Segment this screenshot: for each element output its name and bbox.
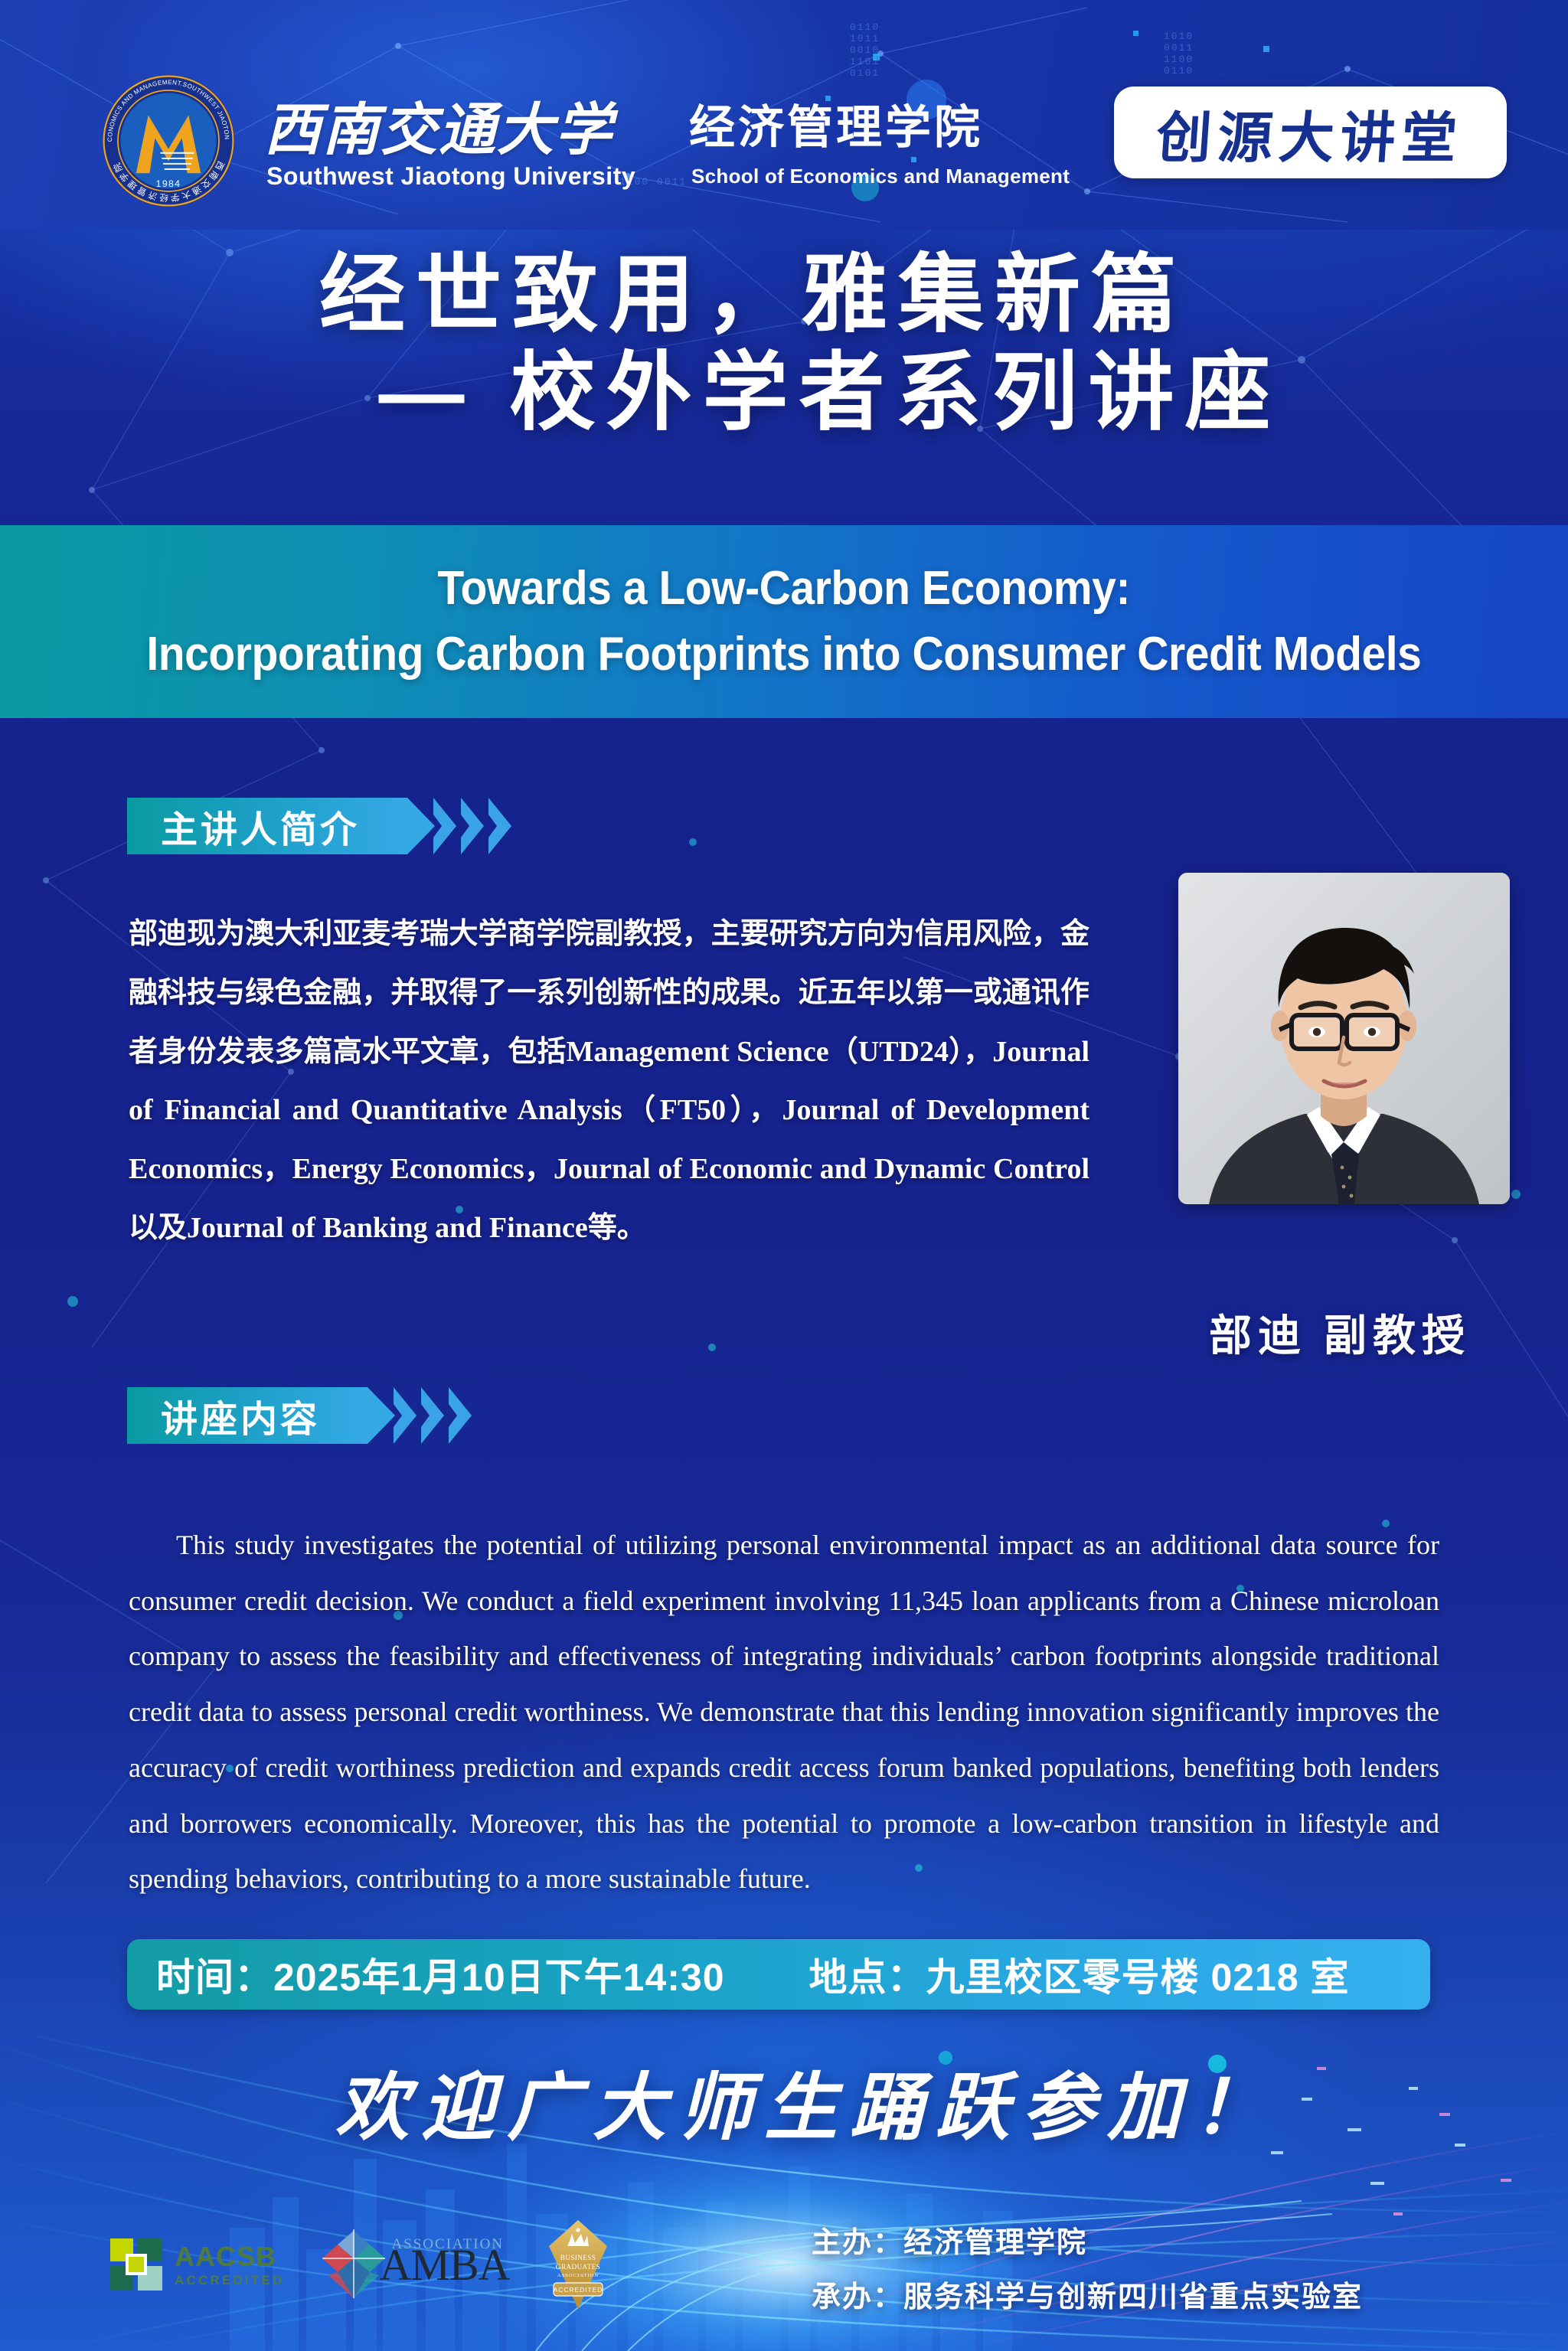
aacsb-logo: AACSB ACCREDITED [107, 2235, 284, 2294]
abstract-body: This study investigates the potential of… [129, 1530, 1439, 1894]
chevron-right-icon-2 [461, 798, 484, 854]
amba-sub: ASSOCIATION [391, 2236, 504, 2253]
speaker-name-title: 部迪 副教授 [1141, 1301, 1539, 1363]
speaker-heading-bar: 主讲人简介 [127, 798, 407, 854]
chevron-right-icon-3 [488, 798, 511, 854]
organizers: 主办：经济管理学院 承办：服务科学与创新四川省重点实验室 [812, 2219, 1363, 2315]
lecture-series-badge: 创源大讲堂 [1114, 87, 1507, 178]
chevron-right-icon-1 [433, 798, 456, 854]
aacsb-wordmark: AACSB ACCREDITED [175, 2243, 284, 2287]
english-subtitle-band: Towards a Low-Carbon Economy: Incorporat… [0, 525, 1568, 718]
speaker-heading-label: 主讲人简介 [161, 799, 360, 853]
speaker-photo [1178, 873, 1510, 1204]
chevron-right-icon-4 [394, 1387, 416, 1444]
accreditation-logos: AACSB ACCREDITED ASSO [107, 2220, 610, 2309]
content-heading-label: 讲座内容 [161, 1389, 320, 1442]
event-info-bar: 时间：2025年1月10日下午14:30 地点：九里校区零号楼 0218 室 [127, 1939, 1430, 2010]
school-name-cn: 经济管理学院 [689, 90, 983, 157]
chevron-right-icon-6 [449, 1387, 472, 1444]
event-place: 地点：九里校区零号楼 0218 室 [809, 1947, 1350, 2002]
content-section-heading: 讲座内容 [127, 1387, 472, 1444]
university-name-cn: 西南交通大学 [264, 84, 613, 166]
school-name-en: School of Economics and Management [691, 165, 1070, 188]
welcome-message: 欢迎广大师生踊跃参加！ [0, 2048, 1568, 2154]
main-title-line2: — 校外学者系列讲座 [0, 342, 1568, 443]
lecture-abstract-text: This study investigates the potential of… [129, 1517, 1439, 1907]
chevron-right-icon-5 [421, 1387, 444, 1444]
svg-text:1984: 1984 [156, 178, 181, 189]
university-name-en: Southwest Jiaotong University [266, 162, 635, 191]
subtitle-line1: Towards a Low-Carbon Economy: [438, 556, 1131, 622]
main-title-line1: 经世致用，雅集新篇 [0, 247, 1568, 342]
speaker-bio-text: 部迪现为澳大利亚麦考瑞大学商学院副教授，主要研究方向为信用风险，金融科技与绿色金… [129, 905, 1089, 1258]
subtitle-line2: Incorporating Carbon Footprints into Con… [146, 622, 1421, 687]
main-title: 经世致用，雅集新篇 — 校外学者系列讲座 [0, 247, 1568, 444]
speaker-section-heading: 主讲人简介 [127, 798, 511, 854]
amba-diamond-icon [321, 2228, 387, 2301]
amba-logo: ASSOCIATION AMBA [321, 2228, 509, 2301]
event-time: 时间：2025年1月10日下午14:30 [156, 1947, 725, 2002]
aacsb-name: AACSB [175, 2243, 284, 2271]
content-heading-bar: 讲座内容 [127, 1387, 367, 1444]
organizer-cohost: 承办：服务科学与创新四川省重点实验室 [812, 2273, 1363, 2315]
bga-line1: BUSINESS [560, 2254, 596, 2261]
bga-line2: GRADUATES [556, 2263, 600, 2271]
lecture-series-badge-label: 创源大讲堂 [1155, 93, 1466, 173]
aacsb-status: ACCREDITED [175, 2274, 284, 2287]
bga-line3: ASSOCIATION [557, 2273, 599, 2278]
swjtu-school-emblem: SCHOOL OF ECONOMICS AND MANAGEMENT.SOUTH… [101, 73, 236, 208]
lecture-poster: 0110 1011 0010 1101 0101 1010 0011 1100 … [0, 0, 1568, 2351]
aacsb-mark-icon [107, 2235, 165, 2294]
speaker-headshot-illustration [1178, 873, 1510, 1204]
bga-logo: BUSINESS GRADUATES ASSOCIATION ACCREDITE… [546, 2220, 610, 2309]
organizer-host: 主办：经济管理学院 [812, 2219, 1363, 2261]
bga-accredited: ACCREDITED [554, 2286, 603, 2294]
